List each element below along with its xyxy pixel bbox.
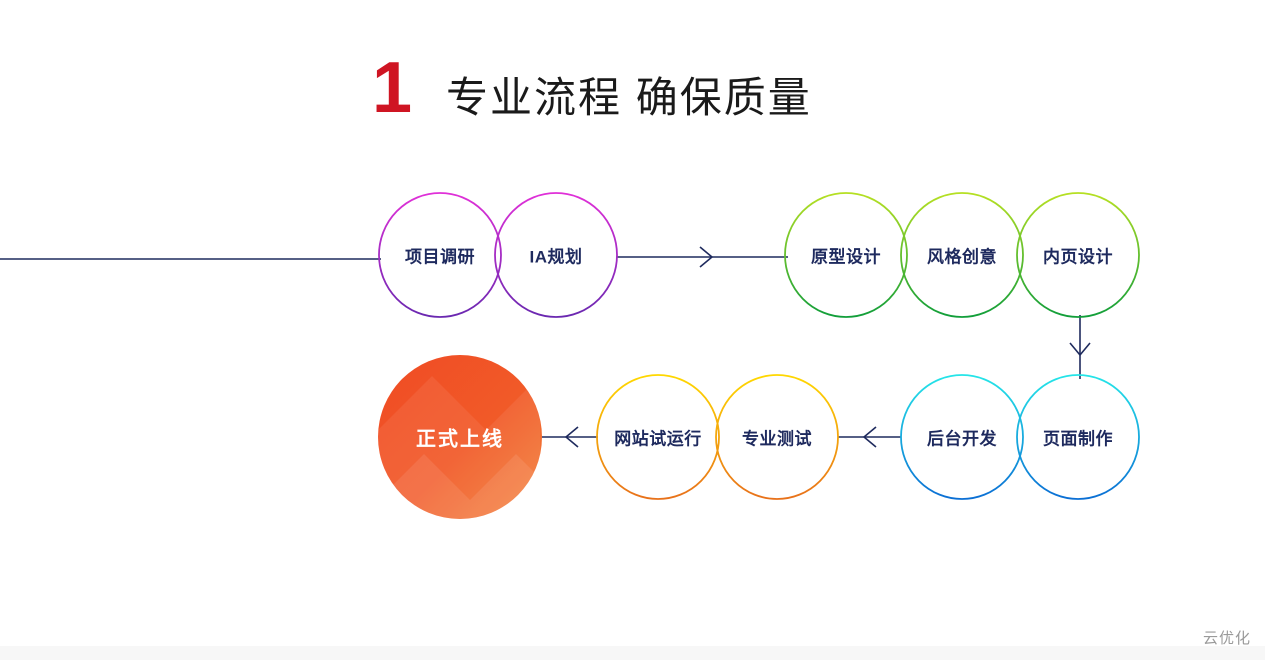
arrowhead-testing-to-launch <box>566 427 578 447</box>
node-label-design-1: 原型设计 <box>811 243 881 268</box>
node-label-research-2: IA规划 <box>530 243 583 268</box>
node-label-development-1: 后台开发 <box>927 425 997 450</box>
title-text: 专业流程 确保质量 <box>446 77 812 119</box>
node-label-research-1: 项目调研 <box>405 243 475 268</box>
page-title: 1 专业流程 确保质量 <box>372 52 812 124</box>
title-number: 1 <box>372 52 412 124</box>
node-label-development-2: 页面制作 <box>1043 425 1113 450</box>
arrowhead-development-to-testing <box>864 427 876 447</box>
node-label-testing-2: 专业测试 <box>742 425 812 450</box>
node-label-design-2: 风格创意 <box>927 243 997 268</box>
node-label-testing-1: 网站试运行 <box>614 425 702 450</box>
footer-strip <box>0 646 1265 660</box>
slide-canvas: 1 专业流程 确保质量 <box>0 0 1265 660</box>
watermark-label: 云优化 <box>1203 627 1251 648</box>
node-label-launch: 正式上线 <box>416 423 504 452</box>
node-label-design-3: 内页设计 <box>1043 243 1113 268</box>
arrowhead-research-to-design <box>700 247 712 267</box>
arrowhead-design-to-development <box>1070 343 1090 355</box>
connector-group <box>0 247 1090 447</box>
